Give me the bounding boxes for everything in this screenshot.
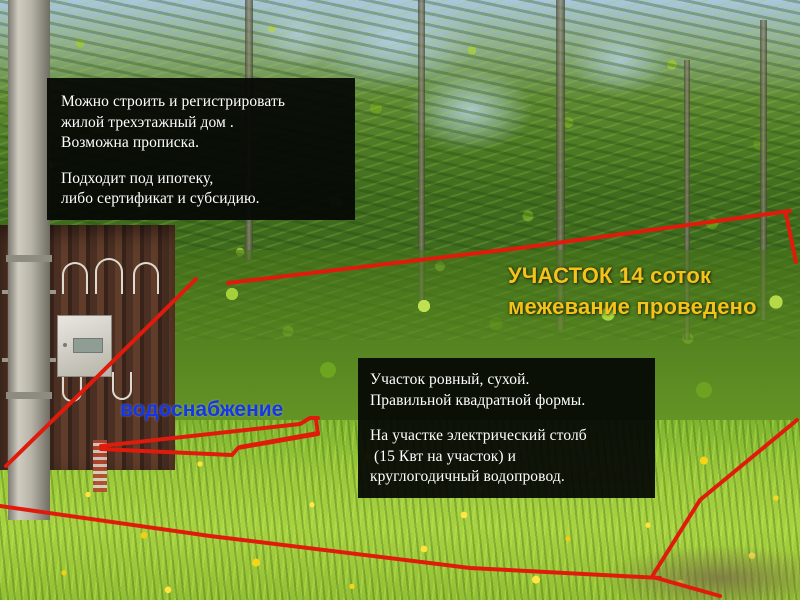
callout-mid-line-3: На участке электрический столб: [370, 426, 643, 447]
headline-survey-done: межевание проведено: [508, 294, 757, 320]
callout-top-line-3: Возможна прописка.: [61, 133, 341, 154]
headline-plot-area: УЧАСТОК 14 соток: [508, 263, 711, 289]
listing-photo: Можно строить и регистрировать жилой тре…: [0, 0, 800, 600]
boundary-line-front: [0, 506, 660, 578]
water-pipe-pointer-upper: [101, 418, 318, 446]
callout-mid-line-1: Участок ровный, сухой.: [370, 370, 643, 391]
boundary-line-right-corner: [786, 214, 796, 262]
callout-mid-line-2: Правильной квадратной формы.: [370, 391, 643, 412]
boundary-line-bottom-tail: [653, 577, 720, 596]
callout-mid-line-5: круглогодичный водопровод.: [370, 467, 643, 488]
callout-plot-utilities: Участок ровный, сухой. Правильной квадра…: [358, 358, 655, 498]
callout-mid-line-4: (15 Квт на участок) и: [370, 447, 643, 468]
boundary-line-right-side: [653, 420, 797, 575]
callout-construction-info: Можно строить и регистрировать жилой тре…: [47, 78, 355, 220]
callout-top-line-1: Можно строить и регистрировать: [61, 92, 341, 113]
callout-spacer: [370, 411, 643, 426]
callout-top-line-2: жилой трехэтажный дом .: [61, 113, 341, 134]
water-pipe-pointer-return: [240, 433, 318, 447]
label-water-supply: водоснабжение: [120, 398, 283, 422]
callout-spacer: [61, 154, 341, 169]
callout-top-line-5: либо сертификат и субсидию.: [61, 189, 341, 210]
callout-top-line-4: Подходит под ипотеку,: [61, 169, 341, 190]
